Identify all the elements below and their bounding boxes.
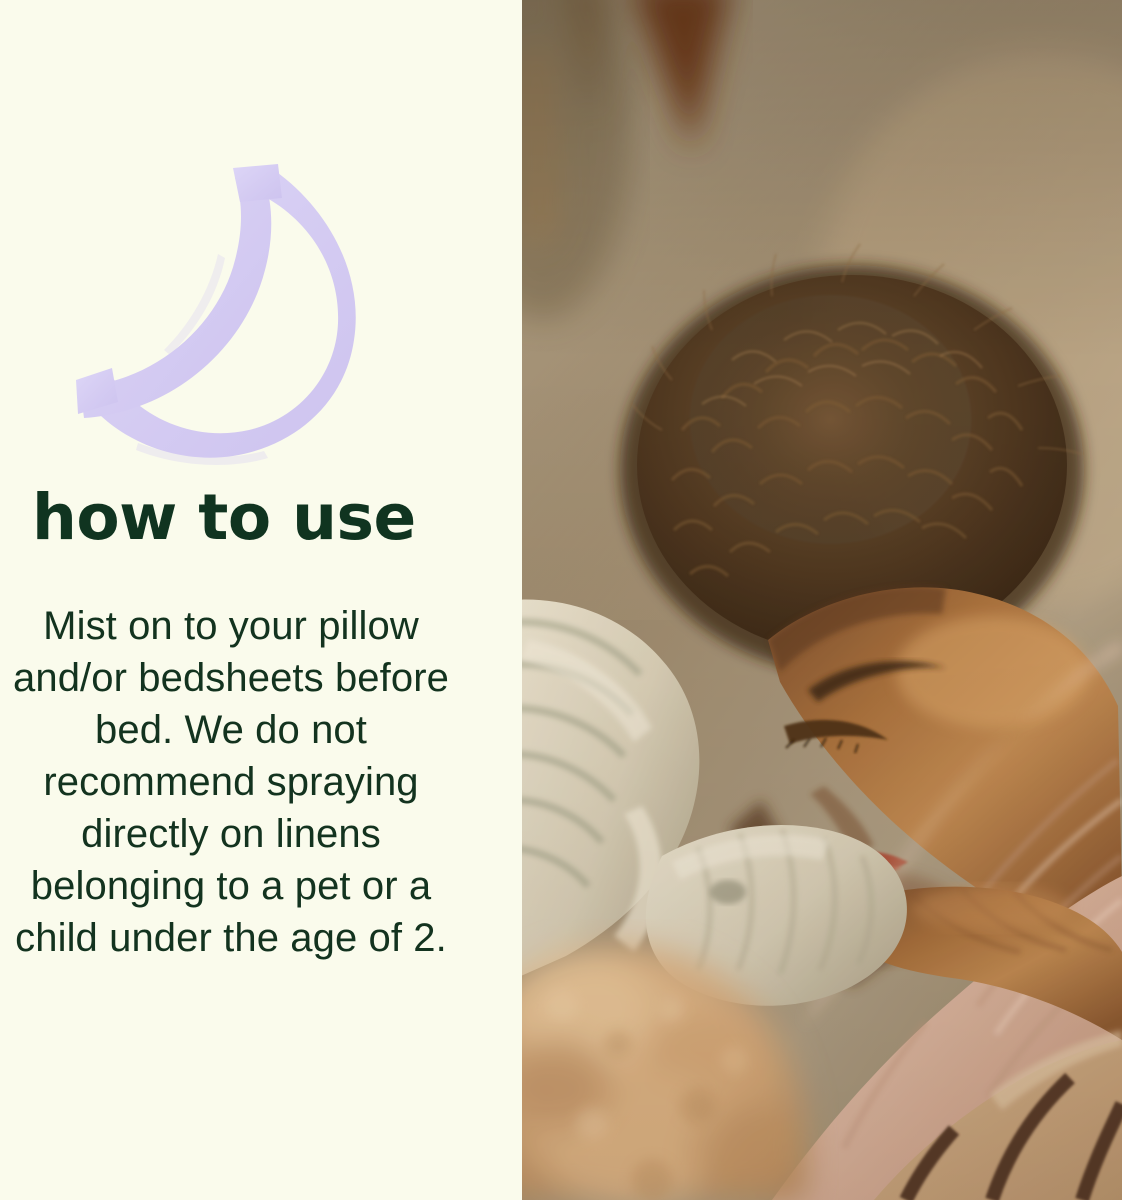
how-to-use-panel: how to use Mist on to your pillow and/or… — [0, 0, 1122, 1200]
page-title: how to use — [0, 486, 470, 549]
crescent-moon-icon — [68, 158, 368, 468]
sleeping-child-photo — [522, 0, 1122, 1200]
left-content-panel: how to use Mist on to your pillow and/or… — [0, 0, 522, 1200]
instructions-text: Mist on to your pillow and/or bedsheets … — [0, 600, 462, 964]
